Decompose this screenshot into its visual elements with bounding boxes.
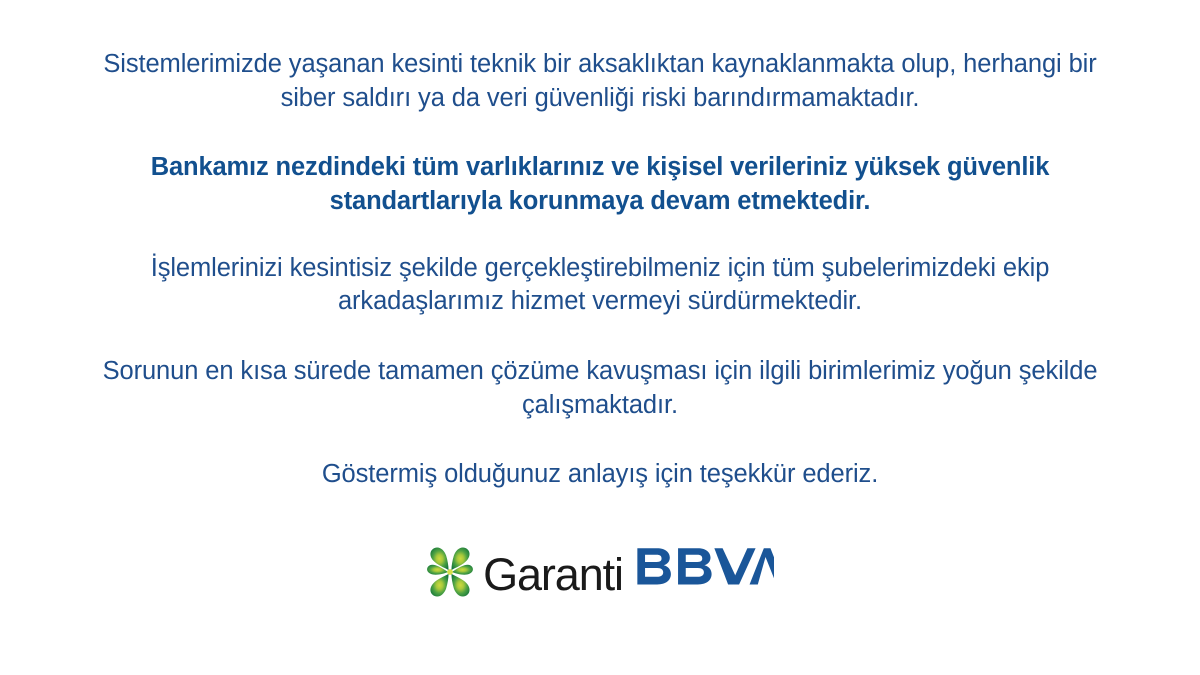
garanti-clover-icon [426, 546, 474, 598]
notice-paragraph-thank-you: Göstermiş olduğunuz anlayış için teşekkü… [95, 458, 1105, 492]
notice-paragraph-branches-open: İşlemlerinizi kesintisiz şekilde gerçekl… [95, 252, 1105, 319]
notice-message-body: Sistemlerimizde yaşanan kesinti teknik b… [95, 48, 1105, 492]
notice-paragraph-teams-working: Sorunun en kısa sürede tamamen çözüme ka… [95, 355, 1105, 422]
logo-wordmark: Garanti [483, 546, 774, 597]
garanti-bbva-logo: Garanti [426, 546, 774, 598]
service-outage-announcement: Sistemlerimizde yaşanan kesinti teknik b… [0, 0, 1200, 675]
logo-text-garanti: Garanti [483, 552, 623, 597]
notice-paragraph-assets-protected: Bankamız nezdindeki tüm varlıklarınız ve… [95, 151, 1105, 218]
logo-text-bbva [636, 546, 774, 590]
bbva-wordmark-icon [636, 546, 774, 590]
notice-paragraph-outage-cause: Sistemlerimizde yaşanan kesinti teknik b… [95, 48, 1105, 115]
